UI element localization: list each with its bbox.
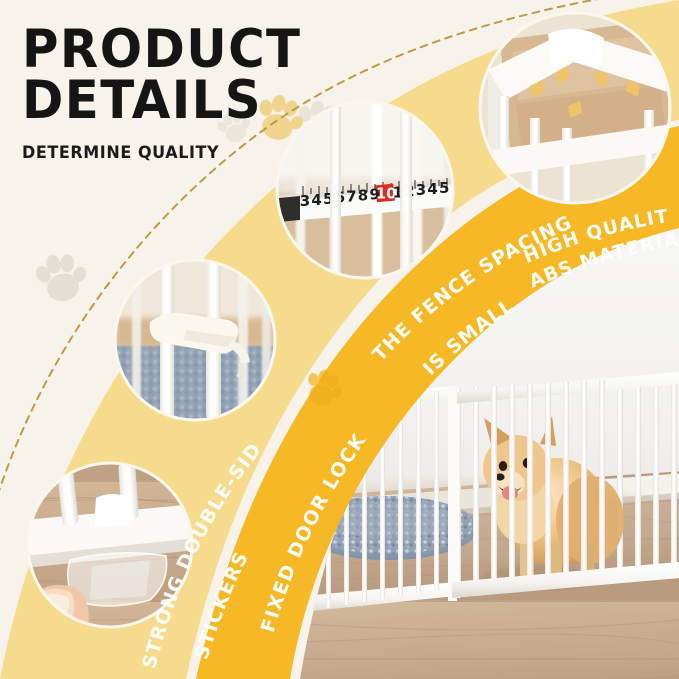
tape-number: 3 [416,181,426,199]
tape-number: 5 [439,179,449,197]
tape-number: 7 [346,188,356,206]
product-detail-infographic: 34567891012345 [0,0,679,679]
infographic-artwork: 34567891012345 [0,0,679,679]
tape-number: 8 [358,187,368,205]
tape-number: 3 [300,192,310,210]
detail-circle-door-lock [115,260,275,420]
tape-number: 4 [427,180,437,198]
tape-number: 4 [311,191,321,209]
